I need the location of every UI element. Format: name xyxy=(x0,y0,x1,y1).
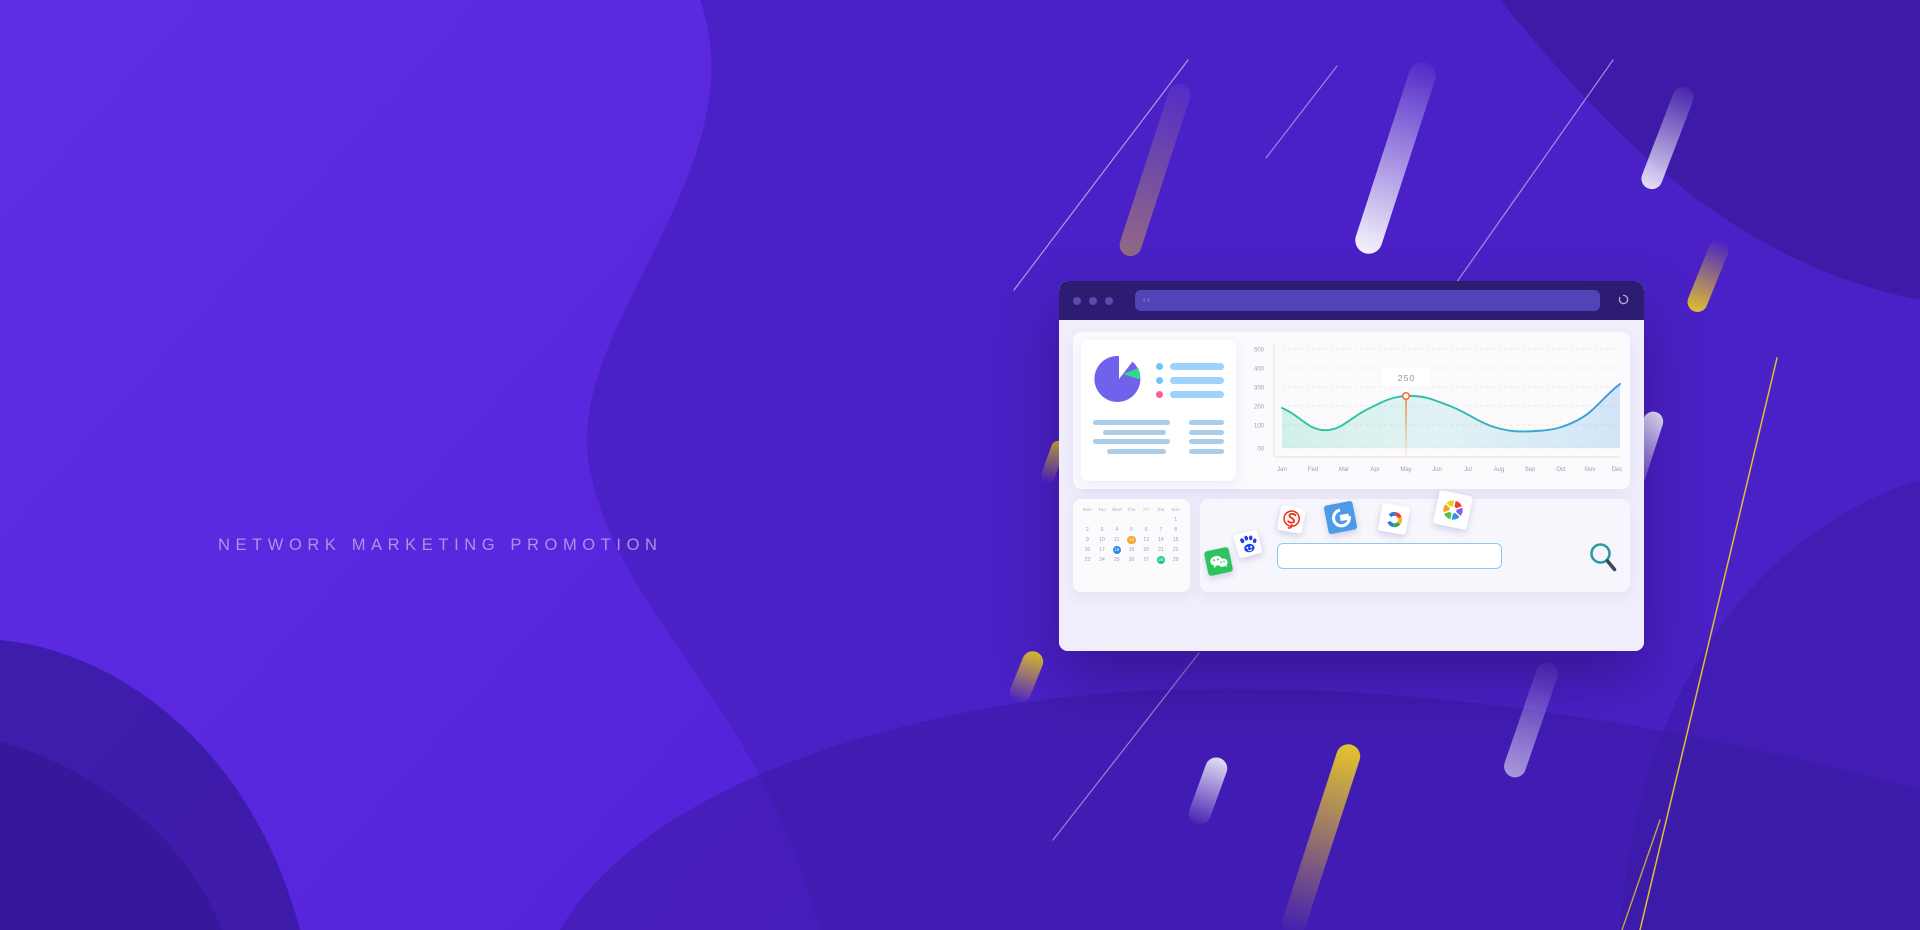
hairline-3 xyxy=(1454,60,1613,286)
search-input[interactable] xyxy=(1277,543,1502,569)
calendar-weekday: Mon xyxy=(1080,507,1095,515)
calendar-day-empty xyxy=(1080,516,1095,525)
calendar-day-empty xyxy=(1154,516,1169,525)
window-dot-maximize[interactable] xyxy=(1105,297,1113,305)
calendar-day-19[interactable]: 19 xyxy=(1124,546,1139,555)
calendar-day-8[interactable]: 8 xyxy=(1168,526,1183,535)
magnifier-icon xyxy=(1588,541,1618,573)
placeholder-line xyxy=(1189,420,1224,425)
sogou-logo[interactable] xyxy=(1277,505,1306,534)
calendar-day-13[interactable]: 13 xyxy=(1139,536,1154,545)
dashboard-bottom-row: Mon Tuo Wod Thu Fri Sot Sun 123456789101… xyxy=(1073,499,1630,592)
legend-dot-blue-1 xyxy=(1156,363,1163,370)
sogou-glyph xyxy=(1279,507,1303,531)
x-axis-ticks: Jan Fed Mar Apr May Jun Jul Aug Sep Oct … xyxy=(1277,467,1622,473)
calendar-day-3[interactable]: 3 xyxy=(1095,526,1110,535)
calendar-day-9[interactable]: 9 xyxy=(1080,536,1095,545)
chart-area-fill xyxy=(1282,384,1620,448)
placeholder-line xyxy=(1107,449,1166,454)
hairline-4 xyxy=(1053,653,1199,840)
placeholder-line xyxy=(1103,430,1166,435)
marker-vertical-line xyxy=(1405,396,1407,458)
x-tick: Dec xyxy=(1612,467,1623,473)
calendar-day-label: 16 xyxy=(1085,547,1091,553)
x-tick: Fed xyxy=(1308,467,1318,473)
window-dot-minimize[interactable] xyxy=(1089,297,1097,305)
calendar-day-label: 11 xyxy=(1114,537,1119,543)
google-logo[interactable] xyxy=(1323,500,1357,534)
calendar-day-14[interactable]: 14 xyxy=(1154,536,1169,545)
back-arrow-icon[interactable]: ‹ xyxy=(1143,297,1145,304)
calendar-day-empty xyxy=(1124,516,1139,525)
calendar-day-11[interactable]: 11 xyxy=(1109,536,1124,545)
legend-dot-pink xyxy=(1156,391,1163,398)
calendar-day-4[interactable]: 4 xyxy=(1109,526,1124,535)
calendar-day-label: 18 xyxy=(1113,546,1122,555)
calendar-day-label: 23 xyxy=(1085,557,1091,563)
calendar-day-empty xyxy=(1139,516,1154,525)
calendar-day-10[interactable]: 10 xyxy=(1095,536,1110,545)
calendar-day-12[interactable]: 12 xyxy=(1124,536,1139,545)
calendar-day-label: 9 xyxy=(1086,537,1089,543)
legend-bar-1 xyxy=(1170,363,1224,370)
calendar-day-label: 5 xyxy=(1130,527,1133,533)
calendar-weekday: Fri xyxy=(1139,507,1154,515)
placeholder-line xyxy=(1189,449,1224,454)
calendar-weekday: Sun xyxy=(1168,507,1183,515)
legend-item xyxy=(1156,391,1224,398)
y-axis-ticks: 500 400 300 200 100 00 xyxy=(1254,348,1265,453)
calendar-day-29[interactable]: 29 xyxy=(1168,556,1183,565)
calendar-day-label: 25 xyxy=(1114,557,1120,563)
calendar-day-26[interactable]: 26 xyxy=(1124,556,1139,565)
placeholder-line xyxy=(1093,439,1170,444)
tooltip-pointer xyxy=(1403,387,1410,392)
calendar-day-1[interactable]: 1 xyxy=(1168,516,1183,525)
calendar-day-label: 6 xyxy=(1145,527,1148,533)
hairline-gold-2 xyxy=(1622,820,1660,930)
placeholder-line xyxy=(1189,430,1224,435)
calendar-weekday: Wod xyxy=(1109,507,1124,515)
search-panel xyxy=(1200,499,1630,592)
x-tick: Mar xyxy=(1339,467,1349,473)
calendar-day-7[interactable]: 7 xyxy=(1154,526,1169,535)
y-tick: 500 xyxy=(1254,348,1265,354)
calendar-widget[interactable]: Mon Tuo Wod Thu Fri Sot Sun 123456789101… xyxy=(1073,499,1190,592)
calendar-day-20[interactable]: 20 xyxy=(1139,546,1154,555)
calendar-weekday: Sot xyxy=(1154,507,1169,515)
calendar-weekday: Tuo xyxy=(1095,507,1110,515)
analytics-card: 500 400 300 200 100 00 xyxy=(1073,332,1630,489)
calendar-day-label: 4 xyxy=(1115,527,1118,533)
pie-slice-main xyxy=(1094,356,1140,402)
calendar-day-label: 20 xyxy=(1143,547,1149,553)
browser-mockup: ‹ › xyxy=(1059,281,1644,651)
baidu-logo[interactable] xyxy=(1233,529,1262,558)
calendar-day-label: 8 xyxy=(1174,527,1177,533)
x-tick: Jan xyxy=(1277,467,1287,473)
tooltip-value: 250 xyxy=(1398,373,1415,383)
x-tick: Oct xyxy=(1556,467,1566,473)
y-tick: 300 xyxy=(1254,386,1265,392)
pie-legend xyxy=(1156,361,1224,398)
calendar-day-22[interactable]: 22 xyxy=(1168,546,1183,555)
placeholder-line xyxy=(1189,439,1224,444)
calendar-day-empty xyxy=(1095,516,1110,525)
calendar-weekday: Thu xyxy=(1124,507,1139,515)
calendar-day-label: 19 xyxy=(1129,547,1135,553)
placeholder-left-column xyxy=(1093,420,1180,454)
x-tick: Apr xyxy=(1370,467,1379,473)
calendar-day-16[interactable]: 16 xyxy=(1080,546,1095,555)
calendar-day-empty xyxy=(1109,516,1124,525)
line-chart-panel: 500 400 300 200 100 00 xyxy=(1236,340,1624,481)
calendar-day-2[interactable]: 2 xyxy=(1080,526,1095,535)
calendar-day-label: 14 xyxy=(1158,537,1164,543)
pie-placeholder-text xyxy=(1093,420,1224,454)
legend-bar-2 xyxy=(1170,377,1224,384)
reload-glyph xyxy=(1618,294,1629,305)
calendar-day-label: 27 xyxy=(1143,557,1149,563)
calendar-day-label: 1 xyxy=(1174,517,1177,523)
dashboard-viewport: 500 400 300 200 100 00 xyxy=(1059,320,1644,651)
hairline-gold-1 xyxy=(1640,358,1777,930)
calendar-grid: Mon Tuo Wod Thu Fri Sot Sun 123456789101… xyxy=(1080,507,1183,565)
aperture-logo[interactable] xyxy=(1433,490,1473,530)
wechat-logo[interactable] xyxy=(1204,547,1234,577)
window-controls[interactable] xyxy=(1073,297,1113,305)
chart-data-point-marker[interactable] xyxy=(1403,393,1410,400)
calendar-day-label: 10 xyxy=(1099,537,1105,543)
x-tick: Sep xyxy=(1525,467,1536,473)
google-g-glyph xyxy=(1329,506,1352,529)
calendar-day-25[interactable]: 25 xyxy=(1109,556,1124,565)
360-search-logo[interactable] xyxy=(1378,503,1410,535)
line-chart-svg: 500 400 300 200 100 00 xyxy=(1242,340,1624,481)
address-bar[interactable]: ‹ › xyxy=(1135,290,1600,311)
wechat-glyph xyxy=(1208,553,1229,570)
calendar-day-21[interactable]: 21 xyxy=(1154,546,1169,555)
calendar-day-label: 13 xyxy=(1143,537,1149,543)
legend-item xyxy=(1156,377,1224,384)
calendar-day-label: 22 xyxy=(1173,547,1179,553)
pie-and-legend xyxy=(1093,351,1224,407)
calendar-day-17[interactable]: 17 xyxy=(1095,546,1110,555)
legend-bar-3 xyxy=(1170,391,1224,398)
pie-summary-card xyxy=(1081,340,1236,481)
calendar-day-label: 21 xyxy=(1158,547,1164,553)
x-tick: Jul xyxy=(1464,467,1472,473)
calendar-day-28[interactable]: 28 xyxy=(1154,556,1169,565)
y-tick: 00 xyxy=(1257,447,1264,453)
x-tick: May xyxy=(1400,467,1411,473)
calendar-day-label: 26 xyxy=(1129,557,1135,563)
calendar-day-6[interactable]: 6 xyxy=(1139,526,1154,535)
x-tick: Jun xyxy=(1432,467,1442,473)
calendar-day-5[interactable]: 5 xyxy=(1124,526,1139,535)
calendar-day-27[interactable]: 27 xyxy=(1139,556,1154,565)
search-button[interactable] xyxy=(1588,541,1618,578)
calendar-day-label: 29 xyxy=(1173,557,1179,563)
x-tick: Aug xyxy=(1494,467,1505,473)
browser-title-bar: ‹ › xyxy=(1059,281,1644,320)
baidu-paw-glyph xyxy=(1236,532,1259,555)
calendar-day-label: 3 xyxy=(1101,527,1104,533)
y-tick: 100 xyxy=(1254,424,1265,430)
aperture-glyph xyxy=(1438,495,1469,526)
legend-item xyxy=(1156,363,1224,370)
reload-icon[interactable] xyxy=(1616,294,1630,308)
x-tick: Nov xyxy=(1585,467,1596,473)
calendar-day-15[interactable]: 15 xyxy=(1168,536,1183,545)
calendar-day-label: 28 xyxy=(1157,556,1166,565)
calendar-day-24[interactable]: 24 xyxy=(1095,556,1110,565)
chart-tooltip: 250 xyxy=(1383,367,1430,392)
y-tick: 400 xyxy=(1254,367,1265,373)
y-tick: 200 xyxy=(1254,405,1265,411)
calendar-day-18[interactable]: 18 xyxy=(1109,546,1124,555)
calendar-day-23[interactable]: 23 xyxy=(1080,556,1095,565)
forward-arrow-icon[interactable]: › xyxy=(1147,297,1149,304)
calendar-day-label: 24 xyxy=(1099,557,1105,563)
pie-chart-svg xyxy=(1093,353,1145,405)
calendar-day-label: 15 xyxy=(1173,537,1179,543)
legend-dot-blue-2 xyxy=(1156,377,1163,384)
pie-chart xyxy=(1093,353,1145,405)
calendar-day-label: 7 xyxy=(1160,527,1163,533)
placeholder-line xyxy=(1093,420,1170,425)
window-dot-close[interactable] xyxy=(1073,297,1081,305)
360-ring-glyph xyxy=(1382,507,1406,531)
page-title: NETWORK MARKETING PROMOTION xyxy=(218,536,663,555)
calendar-day-label: 2 xyxy=(1086,527,1089,533)
calendar-day-label: 17 xyxy=(1099,547,1105,553)
hairline-2 xyxy=(1266,66,1337,158)
placeholder-right-column xyxy=(1189,420,1224,454)
calendar-day-label: 12 xyxy=(1127,536,1136,545)
